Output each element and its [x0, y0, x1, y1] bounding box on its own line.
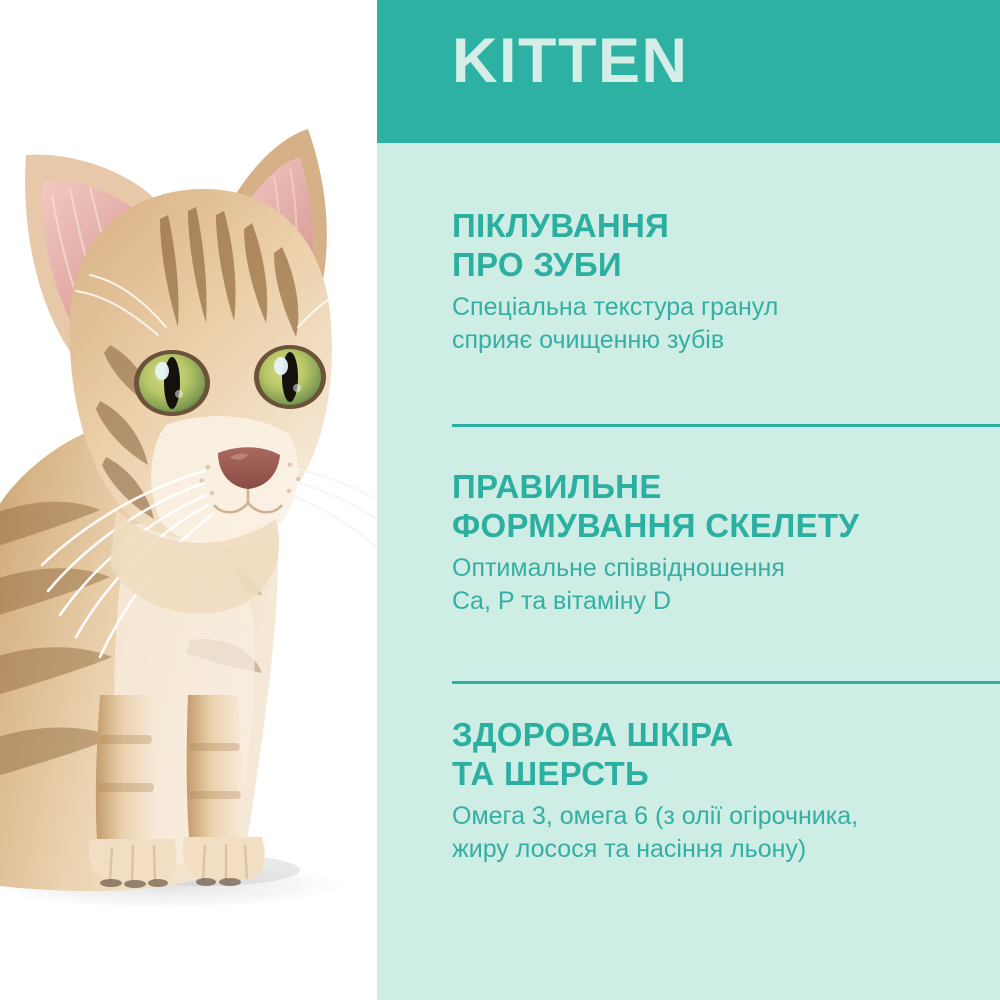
kitten-photo-area [0, 0, 400, 1000]
feature-body: Спеціальна текстура гранул сприяє очищен… [452, 291, 1000, 358]
kitten-photo-image [0, 95, 400, 995]
feature-heading: ПРАВИЛЬНЕ ФОРМУВАННЯ СКЕЛЕТУ [452, 468, 1000, 545]
promo-page: KITTEN ПІКЛУВАННЯ ПРО ЗУБИ Спеціальна те… [0, 0, 1000, 1000]
feature-body: Оптимальне співвідношення Ca, P та вітам… [452, 552, 1000, 619]
feature-heading: ЗДОРОВА ШКІРА ТА ШЕРСТЬ [452, 716, 1000, 793]
feature-block-skin-coat: ЗДОРОВА ШКІРА ТА ШЕРСТЬ Омега 3, омега 6… [452, 716, 1000, 867]
feature-divider [452, 424, 1000, 427]
feature-heading: ПІКЛУВАННЯ ПРО ЗУБИ [452, 207, 1000, 284]
page-title: KITTEN [452, 30, 688, 93]
features-panel: ПІКЛУВАННЯ ПРО ЗУБИ Спеціальна текстура … [377, 143, 1000, 1000]
header-band: KITTEN [377, 0, 1000, 143]
feature-body: Омега 3, омега 6 (з олії огірочника, жир… [452, 800, 1000, 867]
feature-divider [452, 681, 1000, 684]
feature-block-skeleton: ПРАВИЛЬНЕ ФОРМУВАННЯ СКЕЛЕТУ Оптимальне … [452, 468, 1000, 619]
feature-block-dental: ПІКЛУВАННЯ ПРО ЗУБИ Спеціальна текстура … [452, 207, 1000, 358]
